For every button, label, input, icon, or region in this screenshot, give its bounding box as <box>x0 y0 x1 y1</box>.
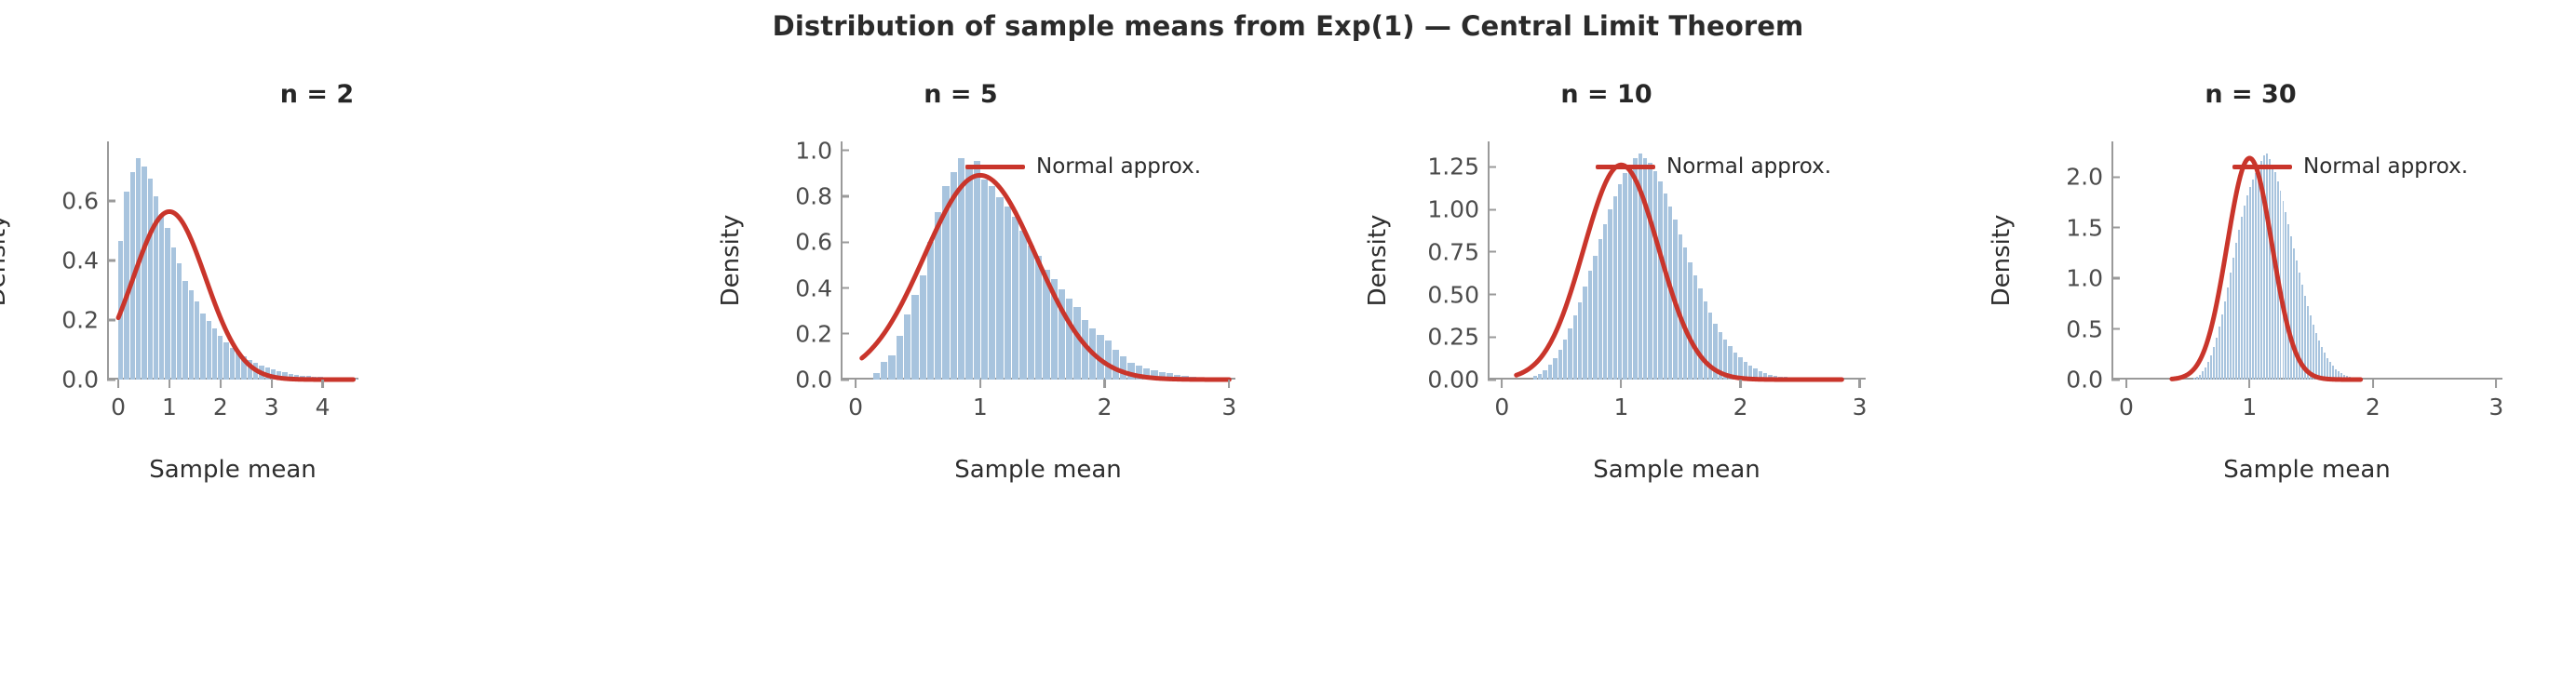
x-tick-label: 1 <box>973 395 988 419</box>
x-tick-label: 0 <box>2119 395 2134 419</box>
x-axis-tick: 1 <box>1613 380 1628 419</box>
x-axis-tick: 3 <box>1853 380 1868 419</box>
y-axis-label: Density <box>0 215 11 307</box>
y-tick-mark <box>107 319 115 321</box>
y-tick-label: 1.25 <box>1427 155 1479 179</box>
legend-label-normal-approx: Normal approx. <box>1036 154 1201 179</box>
legend-line-normal-approx <box>965 165 1025 169</box>
y-tick-mark <box>841 287 849 288</box>
y-tick-mark <box>2111 327 2120 329</box>
x-tick-label: 2 <box>1098 395 1113 419</box>
y-tick-label: 0.5 <box>2066 317 2103 340</box>
y-tick-mark <box>2111 176 2120 178</box>
y-tick-label: 0.25 <box>1427 326 1479 349</box>
y-axis-label: Density <box>1988 215 2016 307</box>
y-axis-tick: 1.25 <box>1427 155 1488 179</box>
subplot-n10: n = 10 0.000.250.500.751.001.250123Sampl… <box>1288 52 1925 681</box>
x-axis-tick: 1 <box>2242 380 2257 419</box>
x-tick-label: 4 <box>316 395 330 419</box>
x-tick-label: 0 <box>848 395 863 419</box>
y-axis-tick: 1.0 <box>795 139 841 162</box>
x-tick-label: 2 <box>213 395 228 419</box>
x-tick-label: 3 <box>1221 395 1236 419</box>
y-tick-label: 0.0 <box>61 368 99 392</box>
y-axis-tick: 1.0 <box>2066 267 2111 290</box>
y-tick-label: 2.0 <box>2066 166 2103 189</box>
x-axis-tick: 3 <box>2488 380 2503 419</box>
x-axis-tick: 3 <box>264 380 279 419</box>
x-tick-label: 1 <box>162 395 177 419</box>
y-tick-label: 0.4 <box>795 276 832 300</box>
x-tick-label: 3 <box>1853 395 1868 419</box>
y-tick-mark <box>841 241 849 243</box>
figure-canvas: Distribution of sample means from Exp(1)… <box>0 0 2576 681</box>
normal-approx-curve <box>107 141 358 380</box>
x-axis-tick: 2 <box>1733 380 1748 419</box>
y-tick-label: 0.00 <box>1427 368 1479 392</box>
y-tick-mark <box>2111 227 2120 229</box>
x-axis-tick: 2 <box>1098 380 1113 419</box>
x-tick-label: 0 <box>111 395 126 419</box>
y-tick-label: 0.0 <box>2066 368 2103 392</box>
y-axis-tick: 0.0 <box>795 368 841 392</box>
x-tick-label: 2 <box>2366 395 2380 419</box>
x-tick-mark <box>1859 380 1861 388</box>
y-axis-tick: 0.4 <box>795 276 841 300</box>
y-tick-label: 1.0 <box>795 139 832 162</box>
x-axis-tick: 2 <box>2366 380 2380 419</box>
x-tick-mark <box>117 380 119 388</box>
y-axis-tick: 0.2 <box>795 322 841 345</box>
y-tick-mark <box>107 260 115 261</box>
x-tick-mark <box>2495 380 2497 388</box>
x-axis-tick: 4 <box>316 380 330 419</box>
subplot-title: n = 5 <box>634 80 1288 109</box>
x-tick-label: 0 <box>1494 395 1509 419</box>
legend-line-normal-approx <box>2232 165 2292 169</box>
x-axis-tick: 3 <box>1221 380 1236 419</box>
y-tick-label: 0.4 <box>61 249 99 273</box>
x-tick-mark <box>1103 380 1105 388</box>
y-tick-label: 0.75 <box>1427 240 1479 263</box>
y-tick-label: 1.0 <box>2066 267 2103 290</box>
x-axis-tick: 0 <box>2119 380 2134 419</box>
y-tick-label: 0.50 <box>1427 283 1479 306</box>
y-tick-label: 0.2 <box>795 322 832 345</box>
y-axis-tick: 0.2 <box>61 309 107 332</box>
y-tick-mark <box>1488 166 1496 167</box>
x-tick-mark <box>1620 380 1622 388</box>
y-axis-tick: 0.0 <box>61 368 107 392</box>
x-axis-label: Sample mean <box>1488 456 1866 484</box>
x-tick-mark <box>2125 380 2127 388</box>
y-tick-label: 1.00 <box>1427 198 1479 221</box>
x-tick-mark <box>979 380 981 388</box>
y-tick-mark <box>107 200 115 202</box>
y-axis-tick: 0.50 <box>1427 283 1488 306</box>
y-tick-mark <box>841 195 849 197</box>
subplot-n30: n = 30 0.00.51.01.52.00123Sample meanDen… <box>1925 52 2576 681</box>
x-tick-mark <box>220 380 222 388</box>
y-axis-tick: 0.25 <box>1427 326 1488 349</box>
x-tick-mark <box>1739 380 1741 388</box>
x-tick-label: 1 <box>2242 395 2257 419</box>
legend[interactable]: Normal approx. <box>965 154 1201 179</box>
x-axis-label: Sample mean <box>107 456 358 484</box>
legend[interactable]: Normal approx. <box>2232 154 2468 179</box>
x-axis-label: Sample mean <box>841 456 1235 484</box>
y-axis-tick: 0.0 <box>2066 368 2111 392</box>
y-tick-label: 0.0 <box>795 368 832 392</box>
y-tick-label: 0.2 <box>61 309 99 332</box>
y-tick-mark <box>2111 277 2120 279</box>
y-tick-mark <box>1488 293 1496 295</box>
y-axis-tick: 0.8 <box>795 185 841 208</box>
y-tick-label: 1.5 <box>2066 216 2103 239</box>
legend-label-normal-approx: Normal approx. <box>2303 154 2468 179</box>
y-axis-tick: 0.00 <box>1427 368 1488 392</box>
y-axis-tick: 0.6 <box>61 190 107 213</box>
x-tick-label: 3 <box>264 395 279 419</box>
plot-area: 0.00.20.40.601234 <box>107 141 358 380</box>
x-axis-tick: 1 <box>162 380 177 419</box>
y-tick-mark <box>1488 336 1496 338</box>
figure-suptitle: Distribution of sample means from Exp(1)… <box>0 0 2576 52</box>
y-tick-mark <box>841 333 849 335</box>
x-tick-mark <box>2248 380 2250 388</box>
legend-label-normal-approx: Normal approx. <box>1666 154 1831 179</box>
x-tick-label: 3 <box>2488 395 2503 419</box>
x-tick-mark <box>169 380 170 388</box>
x-axis-label: Sample mean <box>2111 456 2502 484</box>
y-tick-label: 0.6 <box>61 190 99 213</box>
subplot-n2: n = 2 0.00.20.40.601234Sample meanDensit… <box>0 52 634 681</box>
y-tick-label: 0.8 <box>795 185 832 208</box>
y-axis-tick: 1.5 <box>2066 216 2111 239</box>
y-axis-label: Density <box>717 215 745 307</box>
y-axis-label: Density <box>1364 215 1392 307</box>
y-axis-tick: 0.6 <box>795 231 841 254</box>
y-tick-label: 0.6 <box>795 231 832 254</box>
x-tick-label: 2 <box>1733 395 1748 419</box>
y-tick-mark <box>1488 208 1496 210</box>
y-axis-tick: 0.75 <box>1427 240 1488 263</box>
subplot-n5: n = 5 0.00.20.40.60.81.00123Sample meanD… <box>634 52 1288 681</box>
y-axis-tick: 1.00 <box>1427 198 1488 221</box>
subplot-title: n = 10 <box>1288 80 1925 109</box>
x-axis-tick: 2 <box>213 380 228 419</box>
x-tick-mark <box>321 380 323 388</box>
subplot-title: n = 2 <box>0 80 634 109</box>
x-tick-mark <box>271 380 273 388</box>
x-axis-tick: 0 <box>1494 380 1509 419</box>
y-axis-tick: 0.5 <box>2066 317 2111 340</box>
subplot-title: n = 30 <box>1925 80 2576 109</box>
y-axis-tick: 2.0 <box>2066 166 2111 189</box>
x-axis-tick: 0 <box>111 380 126 419</box>
x-tick-mark <box>2372 380 2374 388</box>
x-axis-tick: 0 <box>848 380 863 419</box>
x-tick-mark <box>1501 380 1503 388</box>
x-tick-mark <box>1228 380 1230 388</box>
y-tick-mark <box>841 150 849 152</box>
x-axis-tick: 1 <box>973 380 988 419</box>
legend[interactable]: Normal approx. <box>1596 154 1831 179</box>
y-axis-tick: 0.4 <box>61 249 107 273</box>
x-tick-mark <box>855 380 856 388</box>
legend-line-normal-approx <box>1596 165 1655 169</box>
y-tick-mark <box>1488 251 1496 253</box>
x-tick-label: 1 <box>1613 395 1628 419</box>
